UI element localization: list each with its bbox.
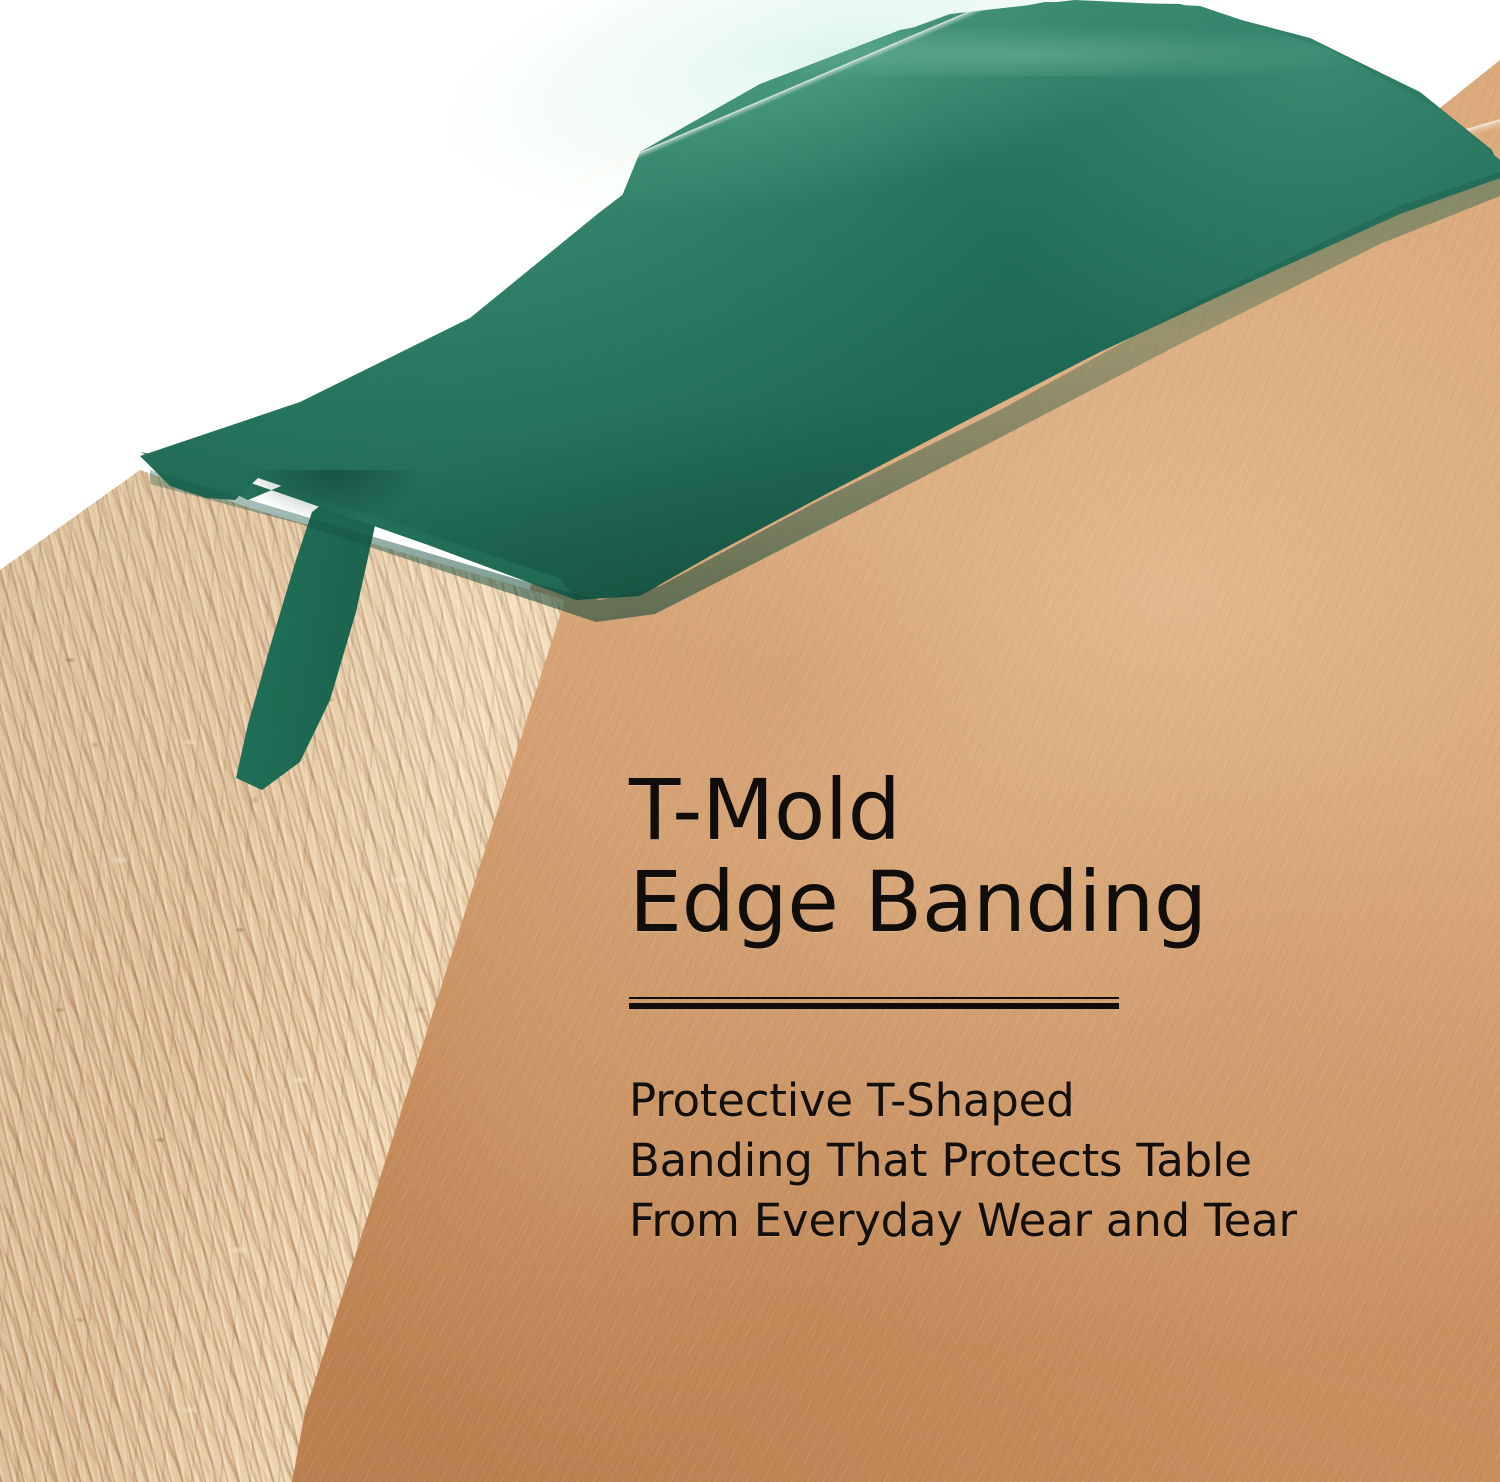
copy-block: T-Mold Edge Banding Protective T-Shaped … [629, 764, 1389, 1252]
headline: T-Mold Edge Banding [629, 764, 1389, 949]
product-feature-image: T-Mold Edge Banding Protective T-Shaped … [0, 0, 1500, 1482]
subcopy: Protective T-Shaped Banding That Protect… [629, 1071, 1389, 1252]
divider-rule-thick [629, 1003, 1119, 1009]
divider [629, 997, 1119, 1009]
